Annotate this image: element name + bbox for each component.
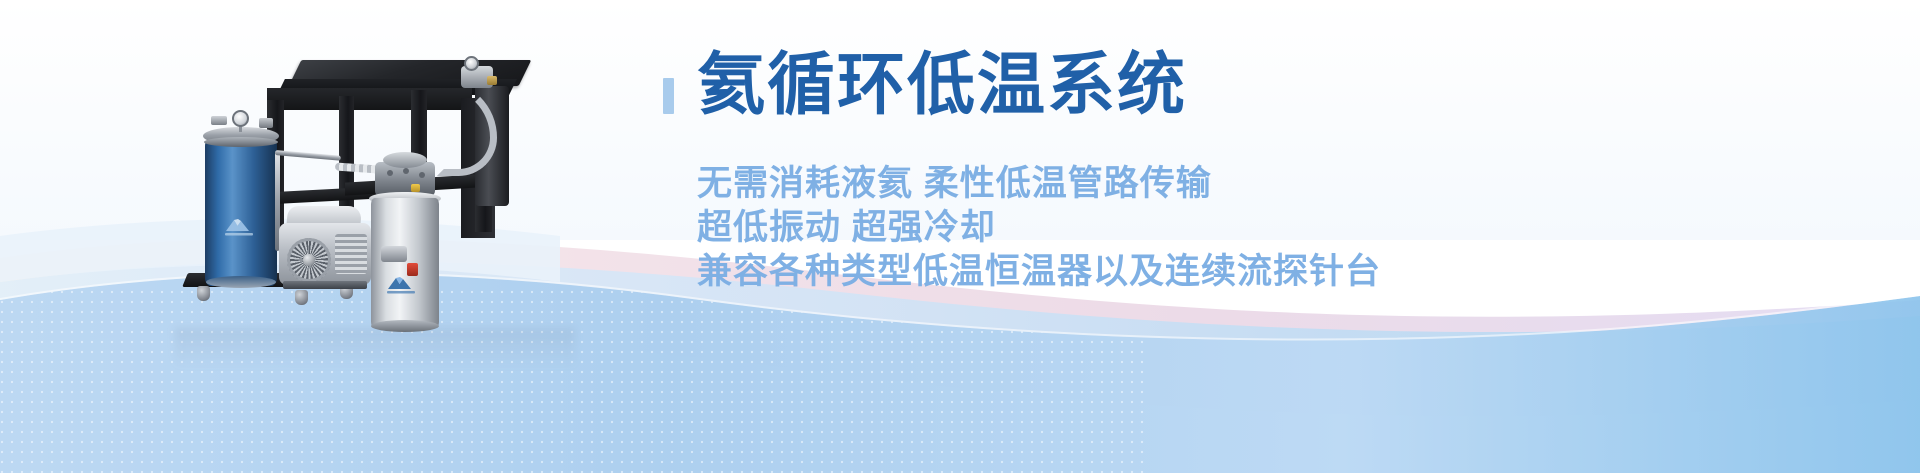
cryostat-flange (383, 152, 427, 168)
caster-wheel (197, 286, 210, 301)
subtitle-line-2: 超低振动 超强冷却 (697, 207, 996, 250)
headline-accent-bar (663, 78, 674, 114)
blue-dewar-tank (205, 138, 277, 286)
brand-logo-mark (383, 274, 423, 296)
vacuum-pump-vents (335, 234, 367, 274)
product-image (175, 38, 575, 328)
cryostat-base (371, 320, 439, 332)
cryostat-fitting (381, 246, 407, 262)
flange-bolt (419, 172, 425, 178)
brand-logo-mark (221, 216, 261, 238)
brass-fitting (487, 76, 497, 85)
product-banner: 氦循环低温系统 无需消耗液氦 柔性低温管路传输 超低振动 超强冷却 兼容各种类型… (0, 0, 1920, 473)
cryostat-yellow-indicator (411, 184, 420, 192)
subtitle-line-3: 兼容各种类型低温恒温器以及连续流探针台 (697, 251, 1381, 294)
vacuum-pump-fan (287, 238, 331, 282)
dewar-valve-left (211, 116, 227, 125)
floor-reflection (175, 328, 575, 368)
pressure-gauge-icon (232, 110, 249, 127)
dewar-clamp-ring (204, 137, 278, 147)
vacuum-pump-foot (283, 281, 367, 289)
top-pressure-gauge-icon (464, 56, 479, 71)
transfer-tube-horizontal (275, 150, 341, 161)
flange-bolt (403, 168, 409, 174)
page-title: 氦循环低温系统 (697, 50, 1187, 121)
dewar-valve-right (259, 118, 273, 128)
caster-wheel (295, 290, 308, 305)
flange-bolt (387, 170, 393, 176)
silver-cryostat-cylinder (371, 198, 439, 328)
subtitle-line-1: 无需消耗液氦 柔性低温管路传输 (697, 163, 1212, 206)
dewar-base (206, 276, 276, 288)
